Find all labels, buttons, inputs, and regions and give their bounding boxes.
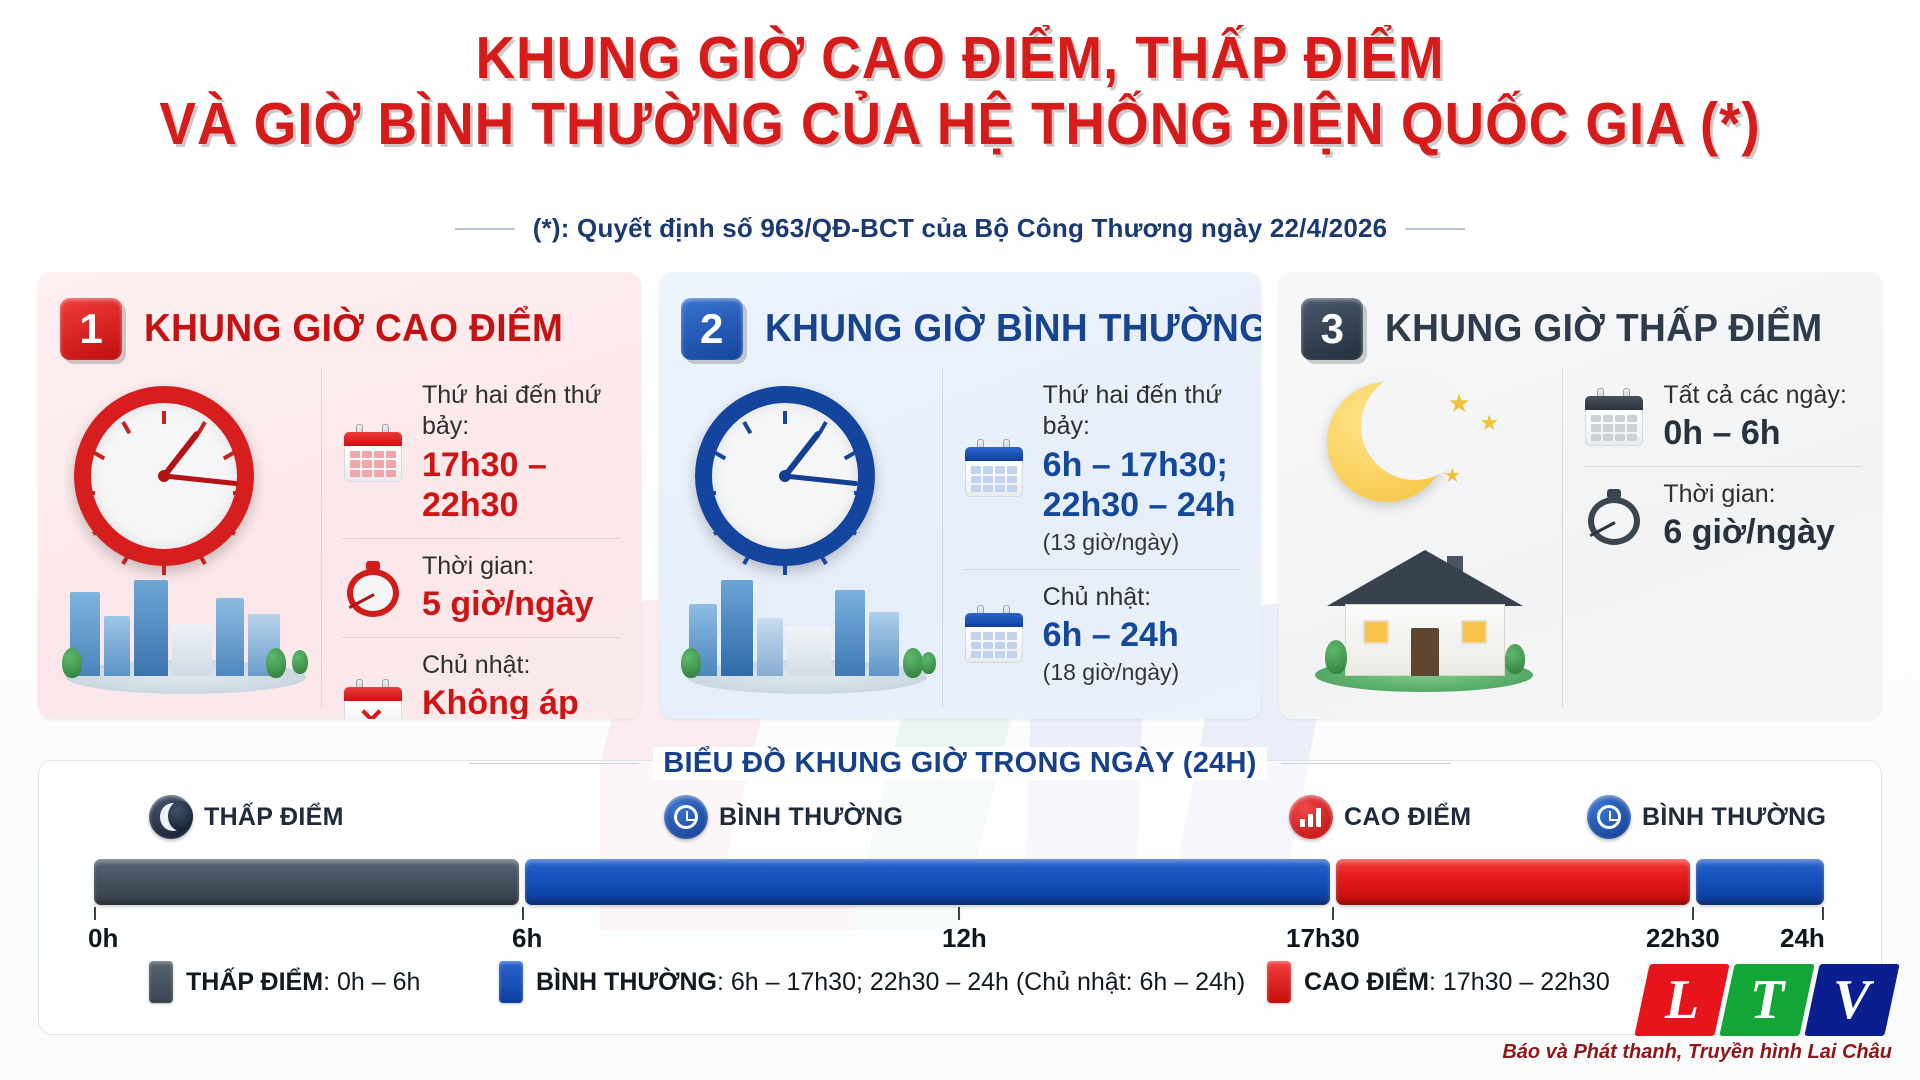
stopwatch-icon	[342, 559, 404, 617]
legend-name: BÌNH THƯỜNG	[536, 968, 717, 996]
row-note: (18 giờ/ngày)	[1043, 658, 1242, 687]
legend-swatch	[499, 961, 523, 1003]
house-illustration	[1319, 542, 1529, 692]
axis-tick-0h: 0h	[88, 923, 118, 954]
row-value: 17h30 – 22h30	[422, 445, 621, 527]
card-header: 1 KHUNG GIỜ CAO ĐIỂM	[38, 272, 641, 368]
axis-tick-12h: 12h	[942, 923, 987, 954]
card-row-text: Thứ hai đến thứ bảy: 17h30 – 22h30	[422, 380, 621, 526]
card-artwork-moon-house: ★ ★ ★	[1297, 368, 1562, 708]
clock-icon	[1587, 795, 1631, 839]
rule-right	[1405, 228, 1465, 230]
timeline-chart-panel: BIỂU ĐỒ KHUNG GIỜ TRONG NGÀY (24H) THẤP …	[38, 760, 1882, 1035]
infographic-root: KHUNG GIỜ CAO ĐIỂM, THẤP ĐIỂM VÀ GIỜ BÌN…	[0, 0, 1920, 1080]
legend-sep: :	[1429, 968, 1443, 996]
axis-tick-6h: 6h	[512, 923, 542, 954]
moon-icon	[1327, 382, 1447, 502]
timeline-segment-offpeak	[94, 859, 519, 905]
title-line-2: VÀ GIỜ BÌNH THƯỜNG CỦA HỆ THỐNG ĐIỆN QUỐ…	[67, 94, 1853, 154]
row-value: 6h – 17h30; 22h30 – 24h	[1043, 445, 1242, 527]
row-note: (13 giờ/ngày)	[1043, 528, 1242, 557]
page-title: KHUNG GIỜ CAO ĐIỂM, THẤP ĐIỂM VÀ GIỜ BÌN…	[0, 28, 1920, 154]
stopwatch-icon	[1583, 487, 1645, 545]
card-body: Thứ hai đến thứ bảy: 6h – 17h30; 22h30 –…	[659, 368, 1262, 708]
logo-t-text: T	[1750, 968, 1784, 1032]
segment-name: BÌNH THƯỜNG	[719, 803, 903, 832]
logo-v-text: V	[1833, 968, 1870, 1032]
chart-legend: THẤP ĐIỂM: 0h – 6h BÌNH THƯỜNG: 6h – 17h…	[39, 961, 1881, 1007]
axis-tick-24h: 24h	[1780, 923, 1825, 954]
logo-letter-v: V	[1804, 964, 1899, 1036]
segment-name: BÌNH THƯỜNG	[1642, 803, 1826, 832]
row-value: Không áp dụng	[422, 683, 621, 719]
card-number-badge: 3	[1301, 298, 1363, 360]
cards-row: 1 KHUNG GIỜ CAO ĐIỂM	[38, 272, 1882, 719]
legend-text: THẤP ĐIỂM: 0h – 6h	[186, 968, 420, 997]
card-artwork-clock-city	[677, 368, 942, 708]
row-value: 5 giờ/ngày	[422, 584, 621, 625]
row-label: Thời gian:	[422, 551, 621, 582]
ltv-logo: L T V	[1642, 964, 1892, 1036]
logo-tagline: Báo và Phát thanh, Truyền hình Lai Châu	[1472, 1041, 1892, 1064]
card-rows: Thứ hai đến thứ bảy: 6h – 17h30; 22h30 –…	[942, 368, 1242, 708]
timeline-axis: 0h 6h 12h 17h30 22h30 24h	[94, 907, 1824, 953]
card-row: ✕ Chủ nhật: Không áp dụng	[342, 637, 621, 719]
card-offpeak-hours: 3 KHUNG GIỜ THẤP ĐIỂM ★ ★ ★	[1279, 272, 1882, 719]
chart-title: BIỂU ĐỒ KHUNG GIỜ TRONG NGÀY (24H)	[653, 747, 1267, 780]
timeline-segment-peak	[1336, 859, 1690, 905]
card-body: Thứ hai đến thứ bảy: 17h30 – 22h30 Thời …	[38, 368, 641, 708]
city-illustration	[56, 568, 318, 698]
row-value: 0h – 6h	[1663, 413, 1862, 454]
row-label: Thời gian:	[1663, 479, 1862, 510]
card-body: ★ ★ ★	[1279, 368, 1882, 708]
legend-name: THẤP ĐIỂM	[186, 968, 323, 996]
card-artwork-clock-city	[56, 368, 321, 708]
card-peak-hours: 1 KHUNG GIỜ CAO ĐIỂM	[38, 272, 641, 719]
row-label: Chủ nhật:	[1043, 582, 1242, 613]
title-line-1: KHUNG GIỜ CAO ĐIỂM, THẤP ĐIỂM	[67, 28, 1853, 88]
subtitle-row: (*): Quyết định số 963/QĐ-BCT của Bộ Côn…	[0, 213, 1920, 244]
logo-letter-t: T	[1719, 964, 1814, 1036]
clock-icon	[695, 386, 875, 566]
card-row: Chủ nhật: 6h – 24h (18 giờ/ngày)	[963, 569, 1242, 699]
subtitle-text: (*): Quyết định số 963/QĐ-BCT của Bộ Côn…	[533, 213, 1388, 244]
legend-name: CAO ĐIỂM	[1304, 968, 1429, 996]
card-rows: Tất cả các ngày: 0h – 6h Thời gian: 6 gi…	[1562, 368, 1862, 708]
axis-tick-1730: 17h30	[1286, 923, 1360, 954]
chart-rule-left	[469, 763, 639, 764]
legend-text: CAO ĐIỂM: 17h30 – 22h30	[1304, 968, 1610, 997]
row-label: Thứ hai đến thứ bảy:	[1043, 380, 1242, 443]
row-value: 6 giờ/ngày	[1663, 512, 1862, 553]
row-label: Tất cả các ngày:	[1663, 380, 1862, 411]
card-row: Thời gian: 5 giờ/ngày	[342, 538, 621, 637]
segment-label-offpeak: THẤP ĐIỂM	[149, 795, 344, 839]
row-value: 6h – 24h	[1043, 615, 1242, 656]
calendar-icon	[1583, 388, 1645, 446]
legend-item-peak: CAO ĐIỂM: 17h30 – 22h30	[1267, 961, 1610, 1003]
segment-name: CAO ĐIỂM	[1344, 803, 1471, 832]
card-rows: Thứ hai đến thứ bảy: 17h30 – 22h30 Thời …	[321, 368, 621, 708]
segment-label-peak: CAO ĐIỂM	[1289, 795, 1471, 839]
calendar-icon	[963, 439, 1025, 497]
row-label: Thứ hai đến thứ bảy:	[422, 380, 621, 443]
chart-bars-icon	[1289, 795, 1333, 839]
legend-swatch	[149, 961, 173, 1003]
timeline-bar	[94, 859, 1824, 905]
chart-rule-right	[1281, 763, 1451, 764]
segment-labels: THẤP ĐIỂM BÌNH THƯỜNG CAO ĐIỂM BÌNH THƯỜ…	[39, 785, 1881, 851]
star-icon: ★	[1447, 390, 1470, 416]
timeline-segment-normal-2	[1696, 859, 1824, 905]
card-row: Thứ hai đến thứ bảy: 17h30 – 22h30	[342, 368, 621, 538]
card-row: Thứ hai đến thứ bảy: 6h – 17h30; 22h30 –…	[963, 368, 1242, 569]
segment-label-normal-1: BÌNH THƯỜNG	[664, 795, 903, 839]
card-row: Thời gian: 6 giờ/ngày	[1583, 466, 1862, 565]
star-icon: ★	[1443, 466, 1461, 486]
star-icon: ★	[1479, 412, 1499, 434]
axis-tick-2230: 22h30	[1646, 923, 1720, 954]
card-header: 3 KHUNG GIỜ THẤP ĐIỂM	[1279, 272, 1882, 368]
card-normal-hours: 2 KHUNG GIỜ BÌNH THƯỜNG	[659, 272, 1262, 719]
card-row-text: Thời gian: 5 giờ/ngày	[422, 551, 621, 625]
card-number-badge: 2	[681, 298, 743, 360]
legend-detail: 17h30 – 22h30	[1443, 968, 1610, 996]
rule-left	[455, 228, 515, 230]
row-label: Chủ nhật:	[422, 650, 621, 681]
logo-letter-l: L	[1634, 964, 1729, 1036]
calendar-x-icon: ✕	[342, 679, 404, 719]
card-row-text: Thứ hai đến thứ bảy: 6h – 17h30; 22h30 –…	[1043, 380, 1242, 557]
calendar-icon	[342, 424, 404, 482]
card-title: KHUNG GIỜ THẤP ĐIỂM	[1385, 307, 1822, 351]
segment-name: THẤP ĐIỂM	[204, 803, 344, 832]
card-row-text: Thời gian: 6 giờ/ngày	[1663, 479, 1862, 553]
legend-detail: 6h – 17h30; 22h30 – 24h (Chủ nhật: 6h – …	[731, 968, 1245, 996]
timeline-segment-normal-1	[525, 859, 1330, 905]
card-row-text: Chủ nhật: 6h – 24h (18 giờ/ngày)	[1043, 582, 1242, 687]
card-row-text: Chủ nhật: Không áp dụng	[422, 650, 621, 719]
legend-item-offpeak: THẤP ĐIỂM: 0h – 6h	[149, 961, 420, 1003]
legend-detail: 0h – 6h	[337, 968, 420, 996]
legend-sep: :	[323, 968, 337, 996]
city-illustration	[677, 568, 939, 698]
chart-title-row: BIỂU ĐỒ KHUNG GIỜ TRONG NGÀY (24H)	[39, 747, 1881, 780]
card-row: Tất cả các ngày: 0h – 6h	[1583, 368, 1862, 466]
card-number-badge: 1	[60, 298, 122, 360]
moon-icon	[149, 795, 193, 839]
logo-l-text: L	[1665, 968, 1699, 1032]
card-header: 2 KHUNG GIỜ BÌNH THƯỜNG	[659, 272, 1262, 368]
legend-text: BÌNH THƯỜNG: 6h – 17h30; 22h30 – 24h (Ch…	[536, 968, 1245, 997]
legend-item-normal: BÌNH THƯỜNG: 6h – 17h30; 22h30 – 24h (Ch…	[499, 961, 1245, 1003]
segment-label-normal-2: BÌNH THƯỜNG	[1587, 795, 1826, 839]
card-title: KHUNG GIỜ BÌNH THƯỜNG	[765, 307, 1262, 351]
card-title: KHUNG GIỜ CAO ĐIỂM	[144, 307, 563, 351]
calendar-icon	[963, 605, 1025, 663]
card-row-text: Tất cả các ngày: 0h – 6h	[1663, 380, 1862, 454]
clock-icon	[664, 795, 708, 839]
legend-sep: :	[717, 968, 731, 996]
clock-icon	[74, 386, 254, 566]
legend-swatch	[1267, 961, 1291, 1003]
